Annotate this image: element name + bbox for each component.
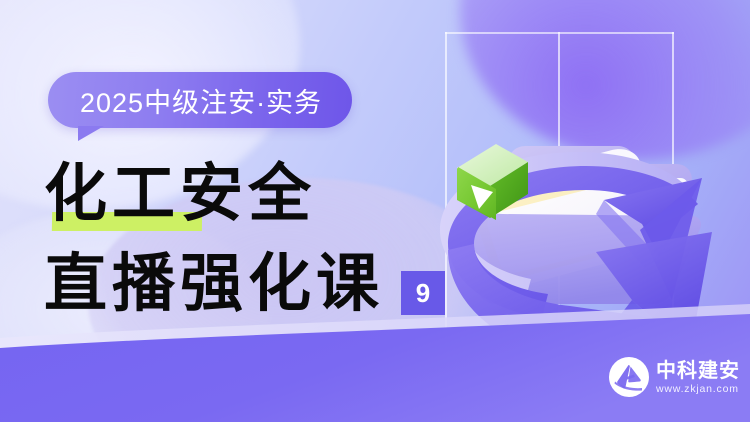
title-line-1-row: 化工安全 xyxy=(44,156,464,232)
play-cube-icon xyxy=(452,136,538,222)
episode-number: 9 xyxy=(416,280,430,306)
course-poster: 2025中级注安·实务 化工安全 直播强化课 9 xyxy=(0,0,750,422)
brand-name: 中科建安 xyxy=(656,360,740,380)
course-tag-label: 2025中级注安·实务 xyxy=(80,81,322,120)
course-tag-badge: 2025中级注安·实务 xyxy=(48,72,352,128)
brand-url: www.zkjan.com xyxy=(656,384,740,395)
brand-logo[interactable]: 中科建安 www.zkjan.com xyxy=(609,357,740,397)
title-line-2: 直播强化课 xyxy=(44,246,384,322)
episode-number-badge: 9 xyxy=(401,271,445,315)
title-line-1: 化工安全 xyxy=(44,157,316,230)
zhongke-jianan-monogram-icon xyxy=(609,357,649,397)
course-tag-pointer xyxy=(78,126,104,141)
course-tag-pill: 2025中级注安·实务 xyxy=(48,72,352,128)
